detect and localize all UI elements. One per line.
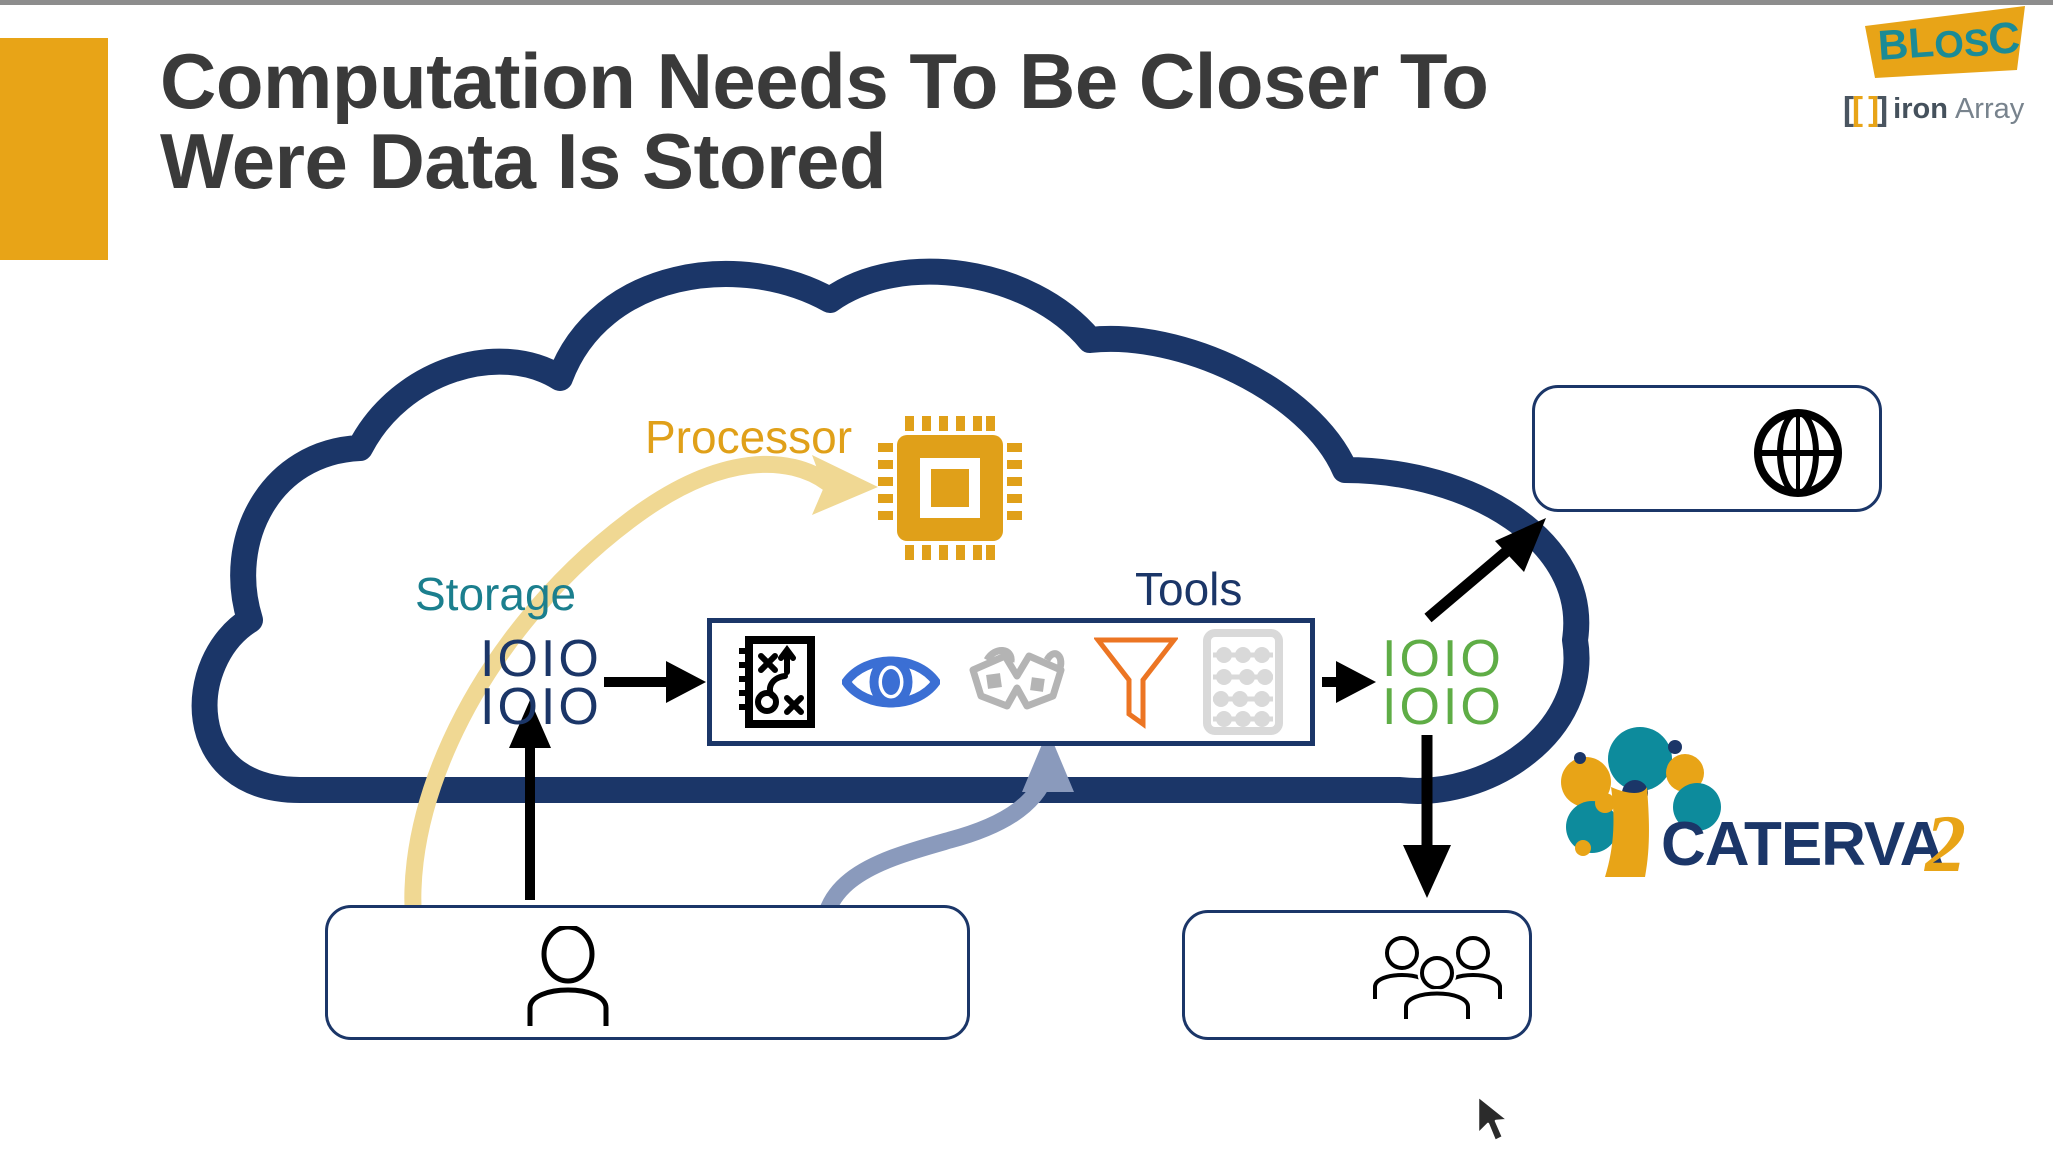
brand-logo: BL OS C [[ ]] ironArray bbox=[1835, 4, 2047, 136]
caterva-version: 2 bbox=[1924, 798, 1966, 889]
blosc-logo-icon: BL OS C bbox=[1857, 4, 2037, 86]
caterva-wordmark: CATERVA bbox=[1661, 810, 1944, 879]
svg-text:C: C bbox=[1987, 13, 2021, 64]
abacus-icon[interactable] bbox=[1203, 629, 1283, 735]
ironarray-bold-text: iron bbox=[1893, 93, 1948, 126]
team-box[interactable]: Team bbox=[1182, 910, 1532, 1040]
storage-to-tools-arrow bbox=[604, 661, 706, 703]
title-accent-block bbox=[0, 38, 108, 260]
mouse-pointer bbox=[1472, 1092, 1512, 1148]
ironarray-inner-bracket-icon: [ ] bbox=[1852, 90, 1877, 127]
globe-icon bbox=[1753, 408, 1843, 498]
storage-label: Storage bbox=[415, 567, 576, 621]
eye-icon[interactable] bbox=[842, 650, 940, 714]
svg-text:OS: OS bbox=[1933, 22, 1990, 67]
funnel-icon[interactable] bbox=[1094, 634, 1178, 730]
person-icon bbox=[518, 926, 618, 1026]
output-to-team-arrow bbox=[1403, 735, 1451, 898]
strategy-notebook-icon[interactable] bbox=[739, 636, 817, 728]
user-box[interactable] bbox=[325, 905, 970, 1040]
page-title: Computation Needs To Be Closer To Were D… bbox=[160, 42, 1800, 201]
cpu-chip-icon bbox=[878, 416, 1022, 560]
output-binary-data: IOIO IOIO bbox=[1382, 635, 1504, 732]
people-group-icon bbox=[1370, 935, 1505, 1019]
world-box[interactable]: World bbox=[1532, 385, 1882, 512]
processor-label: Processor bbox=[645, 410, 852, 464]
ironarray-bracket-icon: [[ ]] bbox=[1843, 90, 1886, 128]
tools-strip[interactable] bbox=[707, 618, 1315, 746]
tools-label: Tools bbox=[1135, 562, 1242, 616]
svg-text:BL: BL bbox=[1876, 18, 1935, 69]
ironarray-light-text: Array bbox=[1955, 93, 2024, 126]
storage-binary-data: IOIO IOIO bbox=[480, 635, 602, 732]
3d-glasses-icon[interactable] bbox=[965, 644, 1069, 720]
slide-canvas: Computation Needs To Be Closer To Were D… bbox=[0, 0, 2053, 1156]
caterva2-logo: CATERVA 2 bbox=[1545, 725, 1985, 910]
output-to-world-arrow bbox=[1428, 518, 1546, 618]
ironarray-wordmark: [[ ]] ironArray bbox=[1843, 90, 2024, 128]
window-top-rule bbox=[0, 0, 2053, 5]
tools-to-output-arrow bbox=[1322, 661, 1376, 703]
